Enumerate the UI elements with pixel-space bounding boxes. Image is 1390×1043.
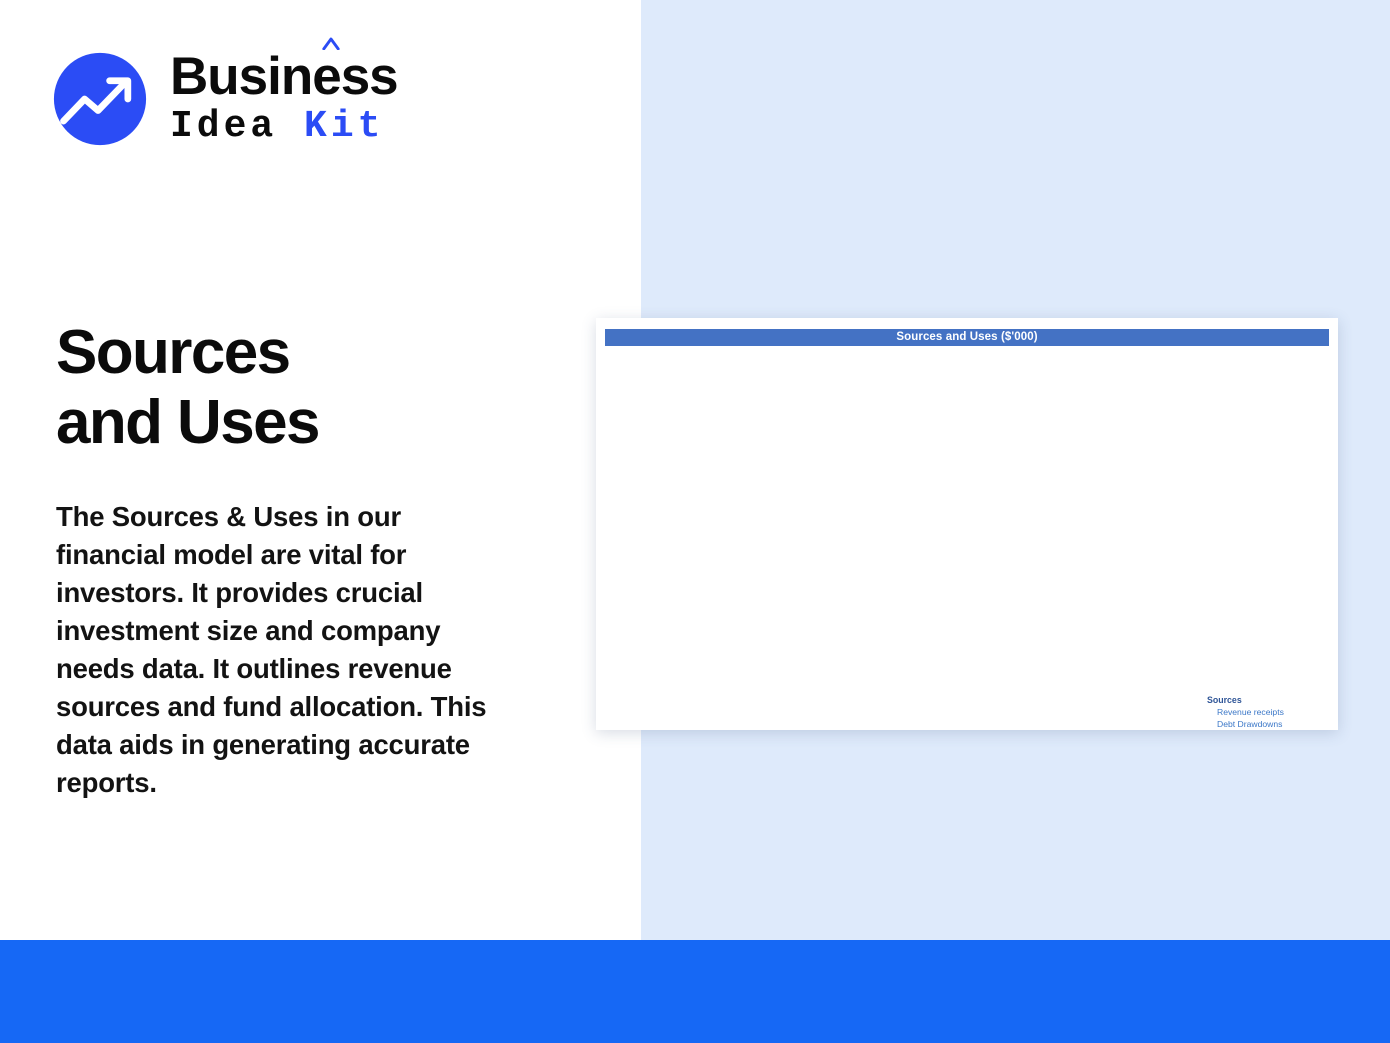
footer-blue-bar	[0, 940, 1390, 1043]
table-row: Debt Drawdowns 700,0 8,0%	[1207, 719, 1338, 730]
table-row: Revenue receipts 7 544,1 86,3%	[1207, 707, 1338, 719]
page-title: Sources and Uses	[56, 318, 576, 458]
sheet-title-bar: Sources and Uses ($'000)	[605, 329, 1329, 346]
brand-wordmark: Business Idea Kit	[170, 50, 398, 149]
brand-line-business: Business	[170, 50, 398, 103]
sources-heading: Sources	[1207, 695, 1338, 705]
sources-table: Sources Revenue receipts 7 544,1 86,3% D…	[1207, 695, 1338, 730]
brand-line-idea-kit: Idea Kit	[170, 105, 398, 149]
row-label: Debt Drawdowns	[1207, 719, 1338, 730]
brand-logo: Business Idea Kit	[52, 50, 398, 149]
growth-arrow-circle-icon	[52, 51, 148, 147]
brand-word-kit: Kit	[304, 105, 384, 148]
brand-word-idea: Idea	[170, 105, 277, 148]
brand-line-business-text: Business	[170, 47, 398, 106]
page-description: The Sources & Uses in our financial mode…	[56, 498, 506, 802]
row-label: Revenue receipts	[1207, 707, 1338, 719]
spreadsheet-screenshot-card: Sources and Uses ($'000) First 24 months…	[596, 318, 1338, 730]
circumflex-accent-icon	[322, 37, 340, 50]
